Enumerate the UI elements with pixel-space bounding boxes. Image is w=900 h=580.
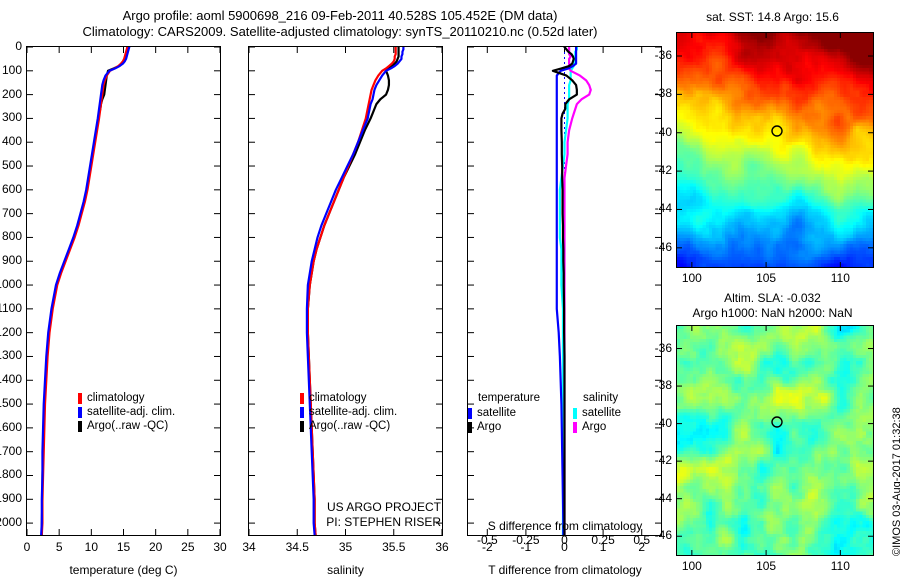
depth-tick-label: 1100: [0, 301, 22, 315]
temperature-axis-label: temperature (deg C): [26, 563, 221, 577]
temperature-legend: climatology satellite-adj. clim. Argo(..…: [78, 391, 175, 433]
map-latitude-tick-label: -40: [636, 125, 672, 139]
sla-map-title-line2: Argo h1000: NaN h2000: NaN: [655, 306, 890, 321]
depth-tick-label: 300: [0, 110, 22, 124]
figure-title-line1: Argo profile: aoml 5900698_216 09-Feb-20…: [0, 8, 680, 24]
sst-map-title: sat. SST: 14.8 Argo: 15.6: [665, 10, 880, 25]
difference-legend-header-salinity: salinity: [583, 392, 618, 404]
legend-swatch-argo: [300, 421, 304, 432]
depth-tick-label: 1700: [0, 444, 22, 458]
legend-swatch-sal-argo: [573, 422, 577, 433]
sst-map[interactable]: [676, 32, 874, 268]
temperature-profile-panel[interactable]: [26, 46, 221, 536]
map-latitude-tick-label: -44: [636, 491, 672, 505]
legend-item-climatology: climatology: [78, 391, 175, 405]
legend-swatch-temp-satellite: [468, 408, 472, 419]
map-latitude-tick-label: -42: [636, 163, 672, 177]
project-credit-line1: US ARGO PROJECT: [243, 500, 441, 515]
map-longitude-tick-label: 110: [812, 271, 868, 285]
sla-map[interactable]: [676, 325, 874, 556]
legend-item-satellite-adj: satellite-adj. clim.: [300, 405, 397, 419]
depth-tick-label: 500: [0, 158, 22, 172]
depth-tick-label: 1200: [0, 325, 22, 339]
depth-tick-label: 1300: [0, 348, 22, 362]
map-latitude-tick-label: -40: [636, 416, 672, 430]
legend-swatch-sal-satellite: [573, 408, 577, 419]
map-latitude-tick-label: -36: [636, 48, 672, 62]
legend-swatch-satellite-adj: [300, 407, 304, 418]
map-longitude-tick-label: 100: [664, 559, 720, 573]
sst-map-canvas: [677, 33, 873, 267]
depth-tick-label: 1600: [0, 420, 22, 434]
legend-item-argo: Argo(..raw -QC): [78, 419, 175, 433]
depth-tick-label: 0: [0, 39, 22, 53]
depth-tick-label: 200: [0, 87, 22, 101]
figure-title-line2: Climatology: CARS2009. Satellite-adjuste…: [0, 24, 680, 40]
map-latitude-tick-label: -44: [636, 201, 672, 215]
depth-tick-label: 1800: [0, 467, 22, 481]
legend-item-temp-argo: Argo: [468, 420, 516, 434]
map-latitude-tick-label: -36: [636, 341, 672, 355]
legend-swatch-argo: [78, 421, 82, 432]
legend-label-satellite-adj: satellite-adj. clim.: [309, 405, 397, 419]
sla-map-title-line1: Altim. SLA: -0.032: [665, 291, 880, 306]
legend-swatch-climatology: [300, 393, 304, 404]
map-longitude-tick-label: 110: [812, 559, 868, 573]
depth-tick-label: 1500: [0, 396, 22, 410]
temperature-plot-area: [27, 47, 220, 535]
depth-tick-label: 900: [0, 253, 22, 267]
map-latitude-tick-label: -42: [636, 453, 672, 467]
depth-tick-label: 700: [0, 206, 22, 220]
project-credit-line2: PI: STEPHEN RISER: [243, 515, 441, 530]
depth-tick-label: 1000: [0, 277, 22, 291]
depth-tick-label: 2000: [0, 515, 22, 529]
depth-tick-label: 1900: [0, 491, 22, 505]
depth-tick-label: 1400: [0, 372, 22, 386]
map-longitude-tick-label: 105: [738, 271, 794, 285]
map-longitude-tick-label: 100: [664, 271, 720, 285]
depth-tick-label: 400: [0, 134, 22, 148]
legend-label-argo: Argo(..raw -QC): [87, 419, 168, 433]
map-latitude-tick-label: -38: [636, 86, 672, 100]
depth-tick-label: 100: [0, 63, 22, 77]
salinity-legend: climatology satellite-adj. clim. Argo(..…: [300, 391, 397, 433]
legend-swatch-satellite-adj: [78, 407, 82, 418]
legend-label-climatology: climatology: [87, 391, 145, 405]
legend-item-sal-satellite: satellite: [573, 406, 621, 420]
map-longitude-tick-label: 105: [738, 559, 794, 573]
legend-item-satellite-adj: satellite-adj. clim.: [78, 405, 175, 419]
map-latitude-tick-label: -46: [636, 240, 672, 254]
legend-label-temp-argo: Argo: [477, 420, 501, 434]
difference-profile-panel[interactable]: [467, 46, 662, 536]
legend-label-argo: Argo(..raw -QC): [309, 419, 390, 433]
legend-label-sal-argo: Argo: [582, 420, 606, 434]
legend-label-climatology: climatology: [309, 391, 367, 405]
legend-item-temp-satellite: satellite: [468, 406, 516, 420]
salinity-plot-area: [249, 47, 442, 535]
map-latitude-tick-label: -46: [636, 528, 672, 542]
salinity-axis-label: salinity: [248, 563, 443, 577]
map-latitude-tick-label: -38: [636, 378, 672, 392]
t-difference-axis-label: T difference from climatology: [460, 563, 670, 577]
difference-legend-salinity: satellite Argo: [573, 406, 621, 434]
legend-item-sal-argo: Argo: [573, 420, 621, 434]
difference-legend-temperature: satellite Argo: [468, 406, 516, 434]
legend-swatch-climatology: [78, 393, 82, 404]
legend-label-sal-satellite: satellite: [582, 406, 621, 420]
legend-swatch-temp-argo: [468, 422, 472, 433]
depth-tick-label: 600: [0, 182, 22, 196]
legend-item-argo: Argo(..raw -QC): [300, 419, 397, 433]
legend-item-climatology: climatology: [300, 391, 397, 405]
legend-label-temp-satellite: satellite: [477, 406, 516, 420]
copyright-text: ©IMOS 03-Aug-2017 01:32:38: [891, 407, 900, 556]
sla-map-canvas: [677, 326, 873, 555]
depth-tick-label: 800: [0, 229, 22, 243]
legend-label-satellite-adj: satellite-adj. clim.: [87, 405, 175, 419]
salinity-profile-panel[interactable]: [248, 46, 443, 536]
difference-plot-area: [468, 47, 661, 535]
difference-legend-header-temperature: temperature: [478, 392, 540, 404]
